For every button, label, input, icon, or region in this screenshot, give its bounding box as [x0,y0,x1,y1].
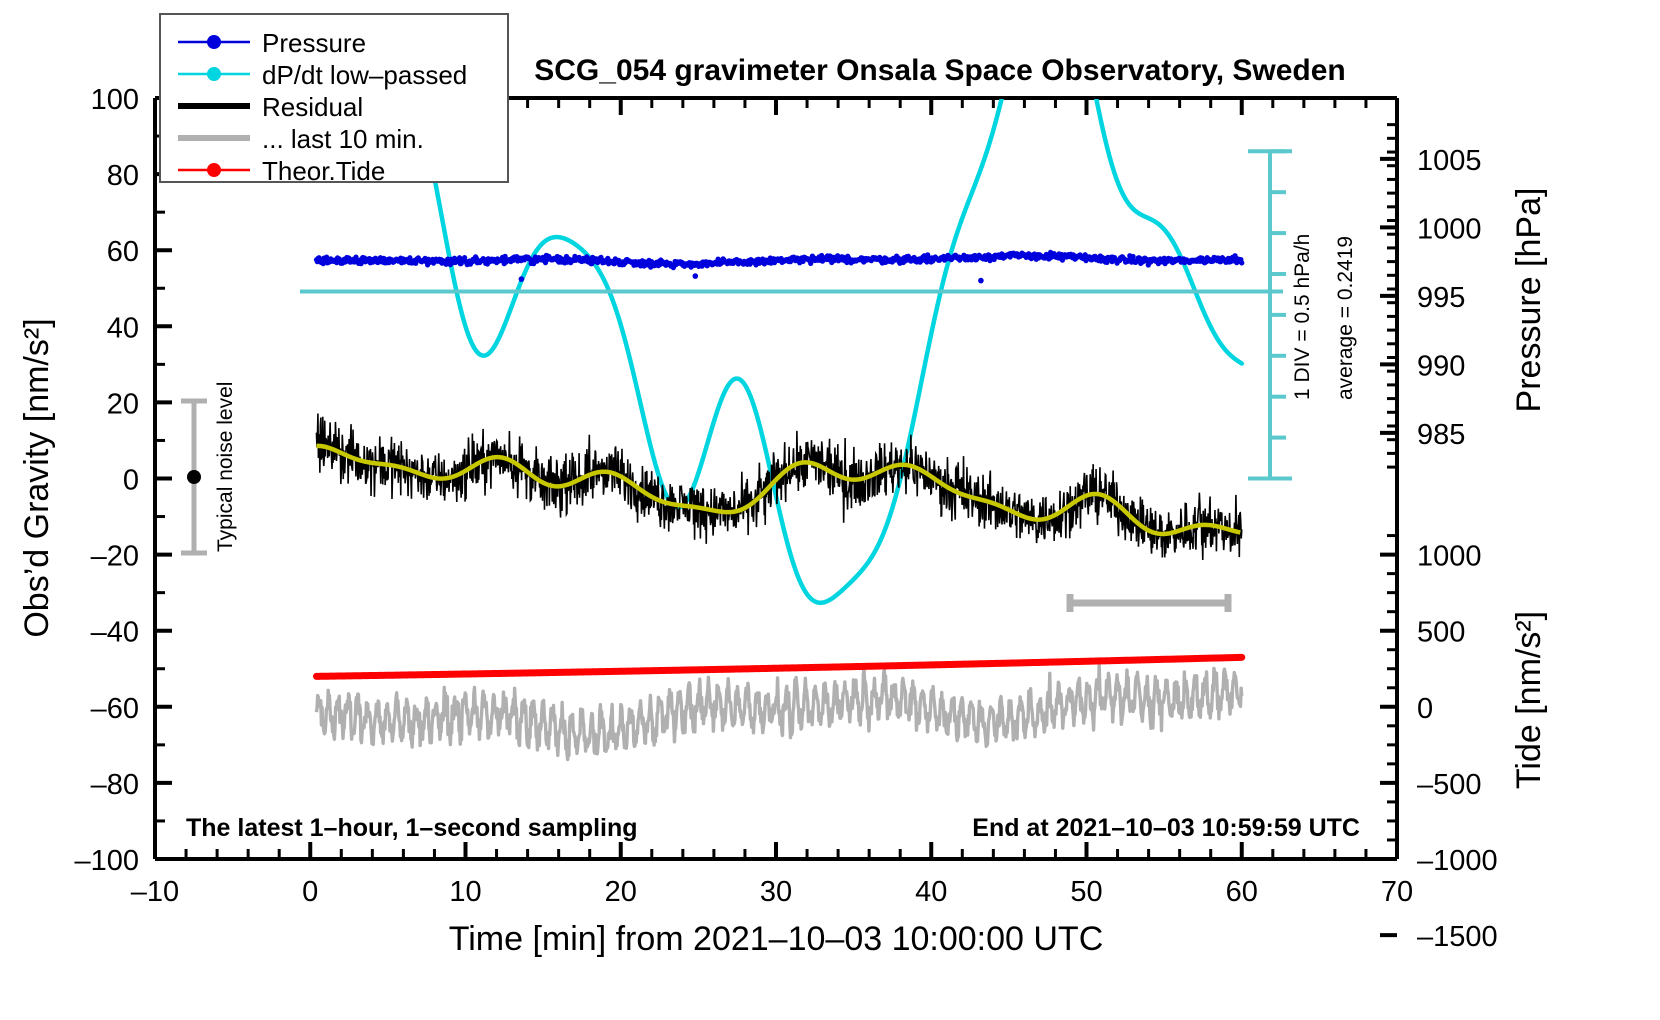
legend-label: ... last 10 min. [262,124,424,154]
tide-tick-label: 500 [1417,617,1465,649]
y-tick-label: 40 [107,312,139,344]
y-tick-label: 60 [107,236,139,268]
x-tick-label: 60 [1226,876,1258,908]
tide-tick-label: 0 [1417,693,1433,725]
legend-label: Theor.Tide [262,156,385,186]
x-axis-title: Time [min] from 2021–10–03 10:00:00 UTC [449,920,1104,958]
x-tick-label: –10 [131,876,179,908]
pressure-tick-label: 1000 [1417,213,1482,245]
y-tick-label: –100 [74,845,139,877]
pressure-tick-label: 1005 [1417,145,1482,177]
x-tick-label: 10 [449,876,481,908]
y-tick-label: –80 [91,769,139,801]
dpdt-average-label: average = 0.2419 [1334,236,1357,400]
legend[interactable]: PressuredP/dt low–passedResidual... last… [160,14,508,186]
right-axis-title-pressure: Pressure [hPa] [1510,188,1548,413]
annotation-bottom-right: End at 2021–10–03 10:59:59 UTC [972,814,1360,842]
y-tick-label: 80 [107,160,139,192]
y-tick-label: 0 [123,465,139,497]
annotation-bottom-left: The latest 1–hour, 1–second sampling [186,814,638,842]
legend-marker-dot [207,35,221,49]
y-tick-label: 20 [107,388,139,420]
y-tick-label: –40 [91,617,139,649]
dpdt-scale-label: 1 DIV = 0.5 hPa/h [1291,234,1314,400]
legend-label: Pressure [262,28,366,58]
tide-tick-label: –1000 [1417,845,1498,877]
pressure-tick-label: 995 [1417,282,1465,314]
x-tick-label: 20 [605,876,637,908]
y-tick-label: 100 [91,84,139,116]
gravimeter-chart: –10010203040506070 100806040200–20–40–60… [0,0,1660,1020]
y-axis-title: Obs’d Gravity [nm/s²] [18,318,56,637]
tide-tick-label: –1500 [1417,921,1498,953]
tide-tick-label: –500 [1417,769,1482,801]
pressure-tick-label: 990 [1417,350,1465,382]
x-tick-label: 40 [915,876,947,908]
x-tick-label: 0 [302,876,318,908]
typical-noise-level-label: Typical noise level [214,382,237,552]
x-tick-label: 30 [760,876,792,908]
legend-label: Residual [262,92,363,122]
page-title: SCG_054 gravimeter Onsala Space Observat… [534,54,1346,87]
x-tick-label: 70 [1381,876,1413,908]
pressure-tick-label: 985 [1417,419,1465,451]
gravimeter-plot-page: –10010203040506070 100806040200–20–40–60… [0,0,1660,1020]
legend-label: dP/dt low–passed [262,60,467,90]
y-tick-label: –20 [91,541,139,573]
x-tick-label: 50 [1070,876,1102,908]
right-axis-title-tide: Tide [nm/s²] [1510,611,1548,789]
y-tick-label: –60 [91,693,139,725]
legend-marker-dot [207,163,221,177]
tide-tick-label: 1000 [1417,541,1482,573]
legend-marker-dot [207,67,221,81]
